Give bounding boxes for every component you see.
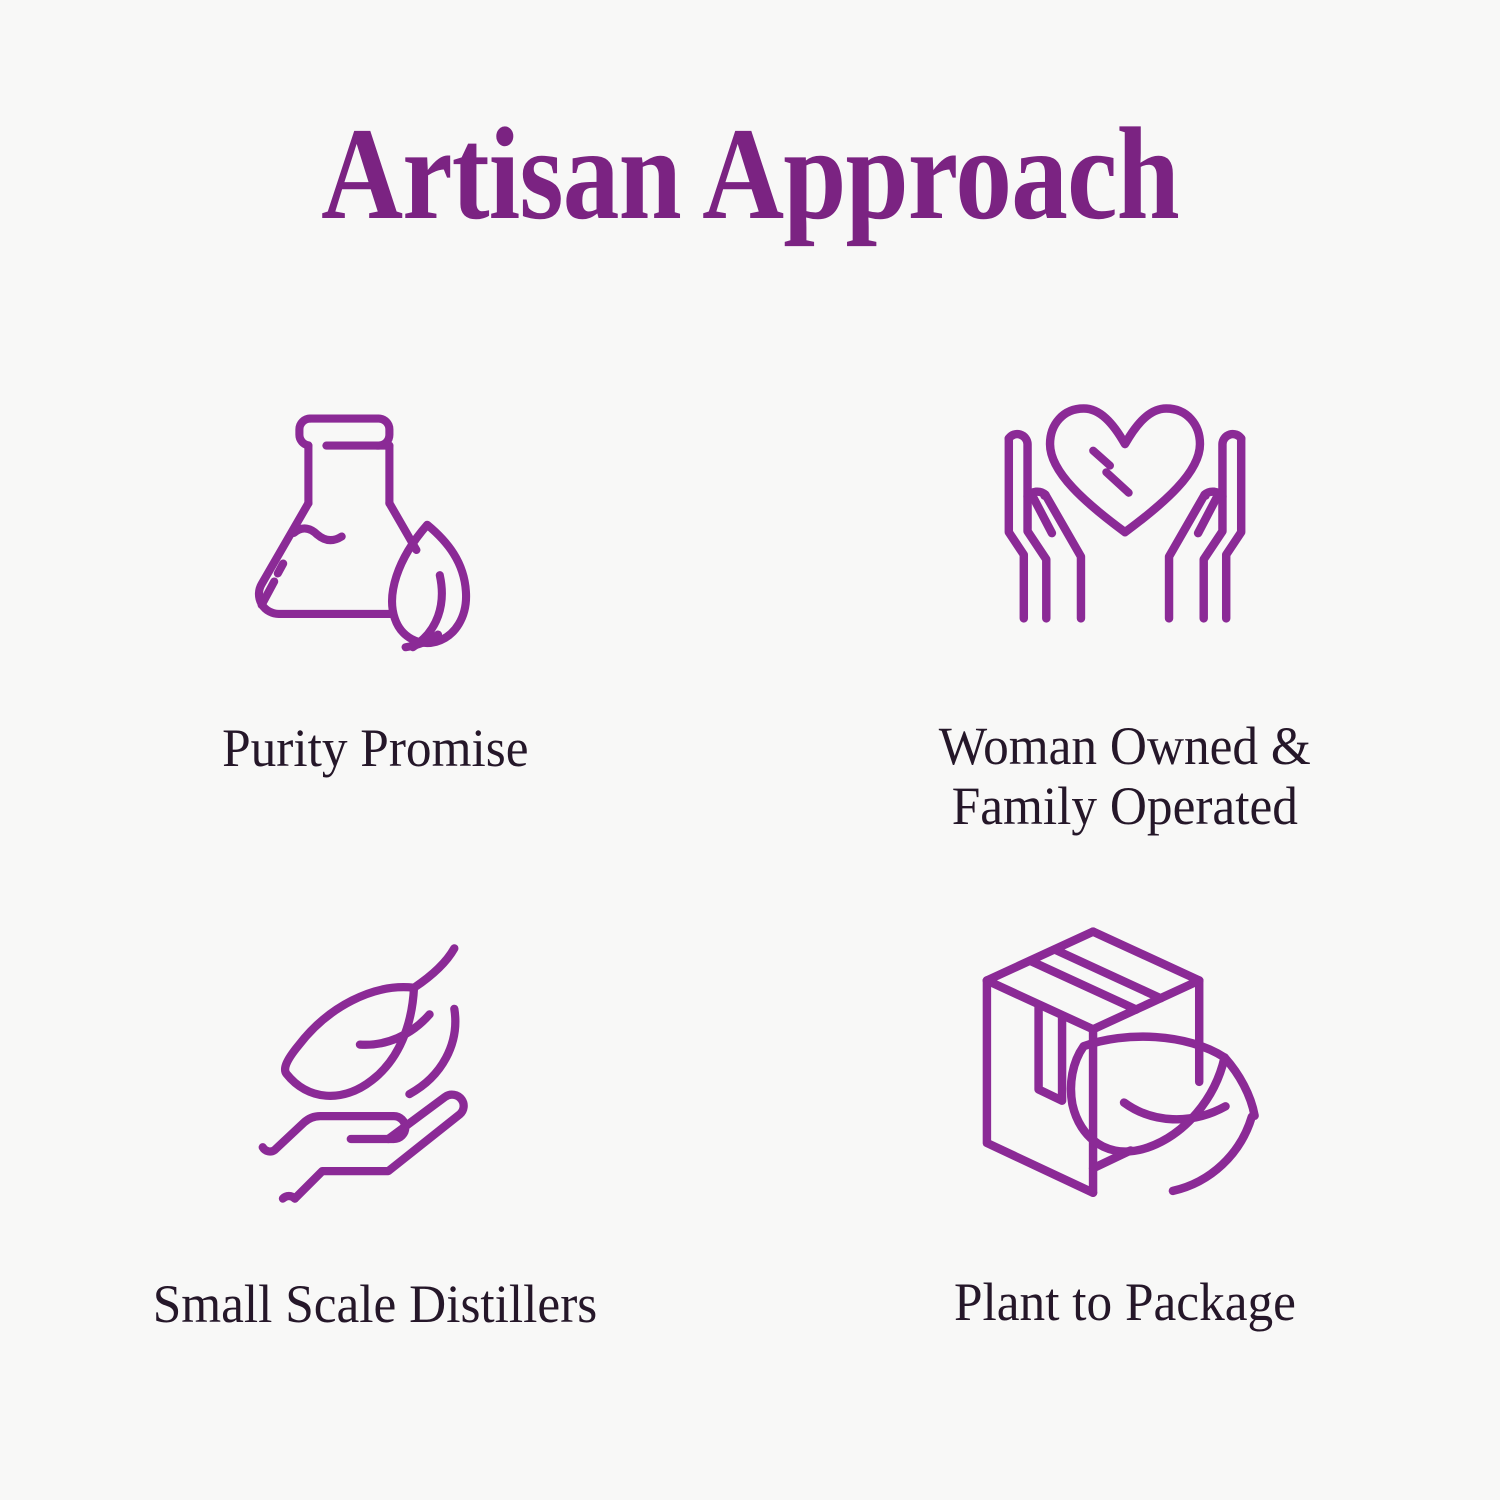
box-leaf-icon [975,920,1275,1210]
infographic-canvas: Artisan Approach [0,0,1500,1500]
feature-grid: Purity Promise [0,360,1500,1350]
feature-label: Purity Promise [222,718,528,778]
feature-item-plant-to-package: Plant to Package [750,920,1500,1350]
flask-leaf-icon [225,378,525,668]
page-title: Artisan Approach [105,108,1395,240]
feature-label: Woman Owned & Family Operated [939,716,1311,837]
feature-item-purity-promise: Purity Promise [0,360,750,920]
hands-heart-icon [975,382,1275,672]
feature-item-woman-owned: Woman Owned & Family Operated [750,360,1500,920]
feature-item-small-scale-distillers: Small Scale Distillers [0,920,750,1350]
feature-label: Plant to Package [954,1272,1296,1332]
hand-leaf-icon [225,922,525,1212]
feature-label: Small Scale Distillers [153,1274,598,1334]
